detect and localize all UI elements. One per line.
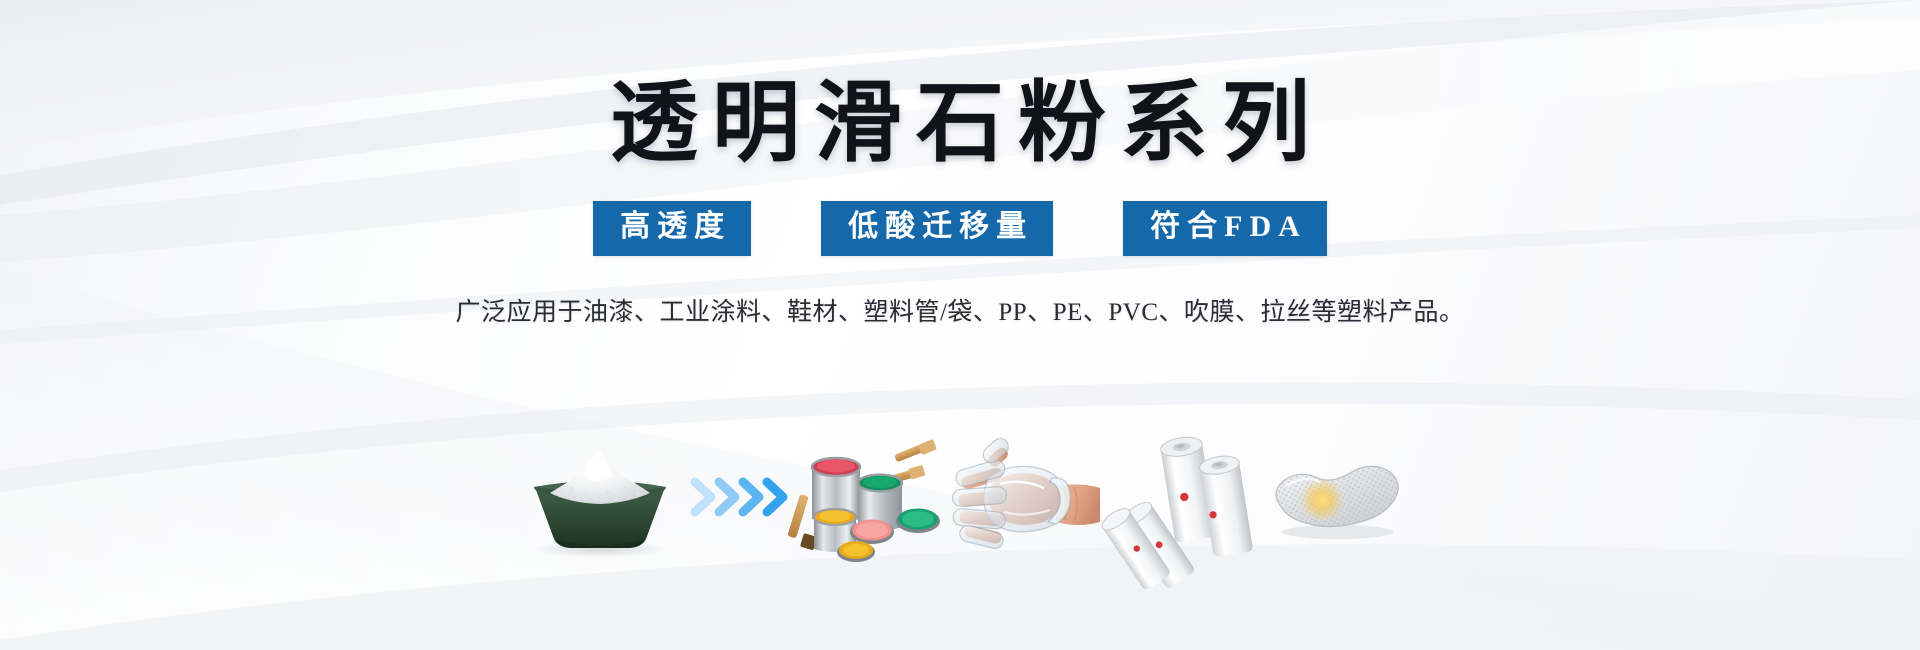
badge-high-transparency: 高透度 (593, 201, 751, 255)
film-rolls-icon (1106, 435, 1256, 560)
product-talc-powder-in-bowl (510, 432, 685, 562)
gloved-hand-icon (952, 442, 1102, 552)
feature-badge-list: 高透度 低酸迁移量 符合FDA (593, 201, 1327, 255)
shoe-sole-icon (1260, 442, 1410, 552)
product-shoe-sole (1260, 432, 1410, 562)
paint-cans-icon (798, 433, 948, 561)
talc-powder-icon (510, 435, 685, 560)
film-roll-right (1198, 453, 1253, 557)
process-arrow-group (689, 432, 794, 562)
product-banner: 透明滑石粉系列 高透度 低酸迁移量 符合FDA 广泛应用于油漆、工业涂料、鞋材、… (0, 0, 1920, 650)
chevron-right-icon (689, 474, 794, 520)
page-title: 透明滑石粉系列 (596, 78, 1324, 171)
product-plastic-glove (952, 432, 1102, 562)
application-description: 广泛应用于油漆、工业涂料、鞋材、塑料管/袋、PP、PE、PVC、吹膜、拉丝等塑料… (455, 292, 1464, 328)
product-film-rolls (1106, 432, 1256, 562)
badge-fda-compliant: 符合FDA (1123, 201, 1327, 255)
paint-lid-green (896, 509, 940, 534)
product-image-strip (510, 432, 1410, 562)
product-paint-cans (798, 432, 948, 562)
badge-low-acid-migration: 低酸迁移量 (821, 201, 1053, 255)
